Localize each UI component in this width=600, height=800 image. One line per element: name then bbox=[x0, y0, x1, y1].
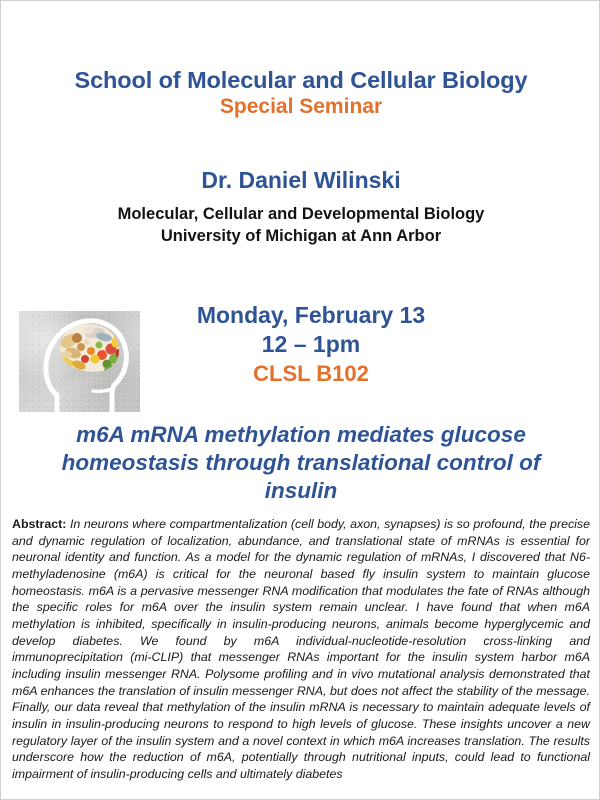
poster-header: School of Molecular and Cellular Biology… bbox=[1, 67, 600, 120]
jaw-line bbox=[93, 389, 112, 391]
abstract-block: Abstract: In neurons where compartmental… bbox=[12, 516, 590, 783]
talk-title: m6A mRNA methylation mediates glucose ho… bbox=[23, 421, 579, 505]
logistics-block: Monday, February 13 12 – 1pm CLSL B102 bbox=[151, 301, 471, 388]
affiliation-block: Molecular, Cellular and Developmental Bi… bbox=[1, 204, 600, 248]
event-type-title: Special Seminar bbox=[1, 94, 600, 119]
affiliation-institution: University of Michigan at Ann Arbor bbox=[1, 226, 600, 248]
seminar-date: Monday, February 13 bbox=[151, 301, 471, 330]
department-title: School of Molecular and Cellular Biology bbox=[1, 67, 600, 93]
speaker-name: Dr. Daniel Wilinski bbox=[1, 167, 600, 195]
abstract-body: In neurons where compartmentalization (c… bbox=[12, 517, 590, 781]
affiliation-department: Molecular, Cellular and Developmental Bi… bbox=[1, 204, 600, 226]
seminar-poster: School of Molecular and Cellular Biology… bbox=[0, 0, 600, 800]
seminar-location: CLSL B102 bbox=[151, 360, 471, 388]
speaker-block: Dr. Daniel Wilinski bbox=[1, 167, 600, 195]
head-silhouette-graphic bbox=[19, 311, 140, 412]
abstract-label: Abstract: bbox=[12, 517, 66, 531]
seminar-time: 12 – 1pm bbox=[151, 330, 471, 359]
food-brain-image bbox=[19, 311, 140, 412]
